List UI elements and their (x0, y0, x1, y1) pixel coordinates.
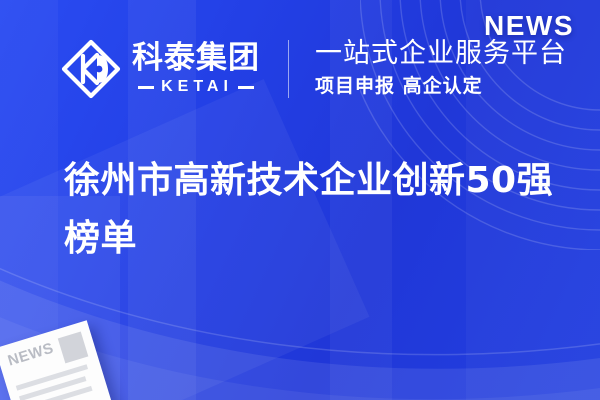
banner-header: 科泰集团 KETAI 一站式企业服务平台 项目申报 高企认定 (60, 38, 567, 100)
brand-wordmark: 科泰集团 KETAI (132, 43, 260, 95)
news-banner: NEWS 科泰集团 KETAI 一站式企业服务平台 (0, 0, 600, 400)
tagline-main: 一站式企业服务平台 (315, 39, 567, 70)
brand-name-en: KETAI (161, 79, 233, 95)
brand-name-en-row: KETAI (138, 79, 254, 95)
brand-name-cn: 科泰集团 (132, 43, 260, 74)
wordmark-dash-left (138, 86, 154, 89)
header-divider (288, 40, 289, 98)
wordmark-dash-right (238, 86, 254, 89)
ketai-diamond-k-logo-icon (60, 38, 122, 100)
brand-logo[interactable]: 科泰集团 KETAI (60, 38, 260, 100)
tagline-group: 一站式企业服务平台 项目申报 高企认定 (315, 39, 567, 98)
newspaper-card-thumbnail (58, 331, 89, 363)
newspaper-card-heading: NEWS (6, 338, 62, 368)
tagline-sub: 项目申报 高企认定 (315, 74, 567, 99)
page-title: 徐州市高新技术企业创新50强榜单 (64, 152, 564, 269)
